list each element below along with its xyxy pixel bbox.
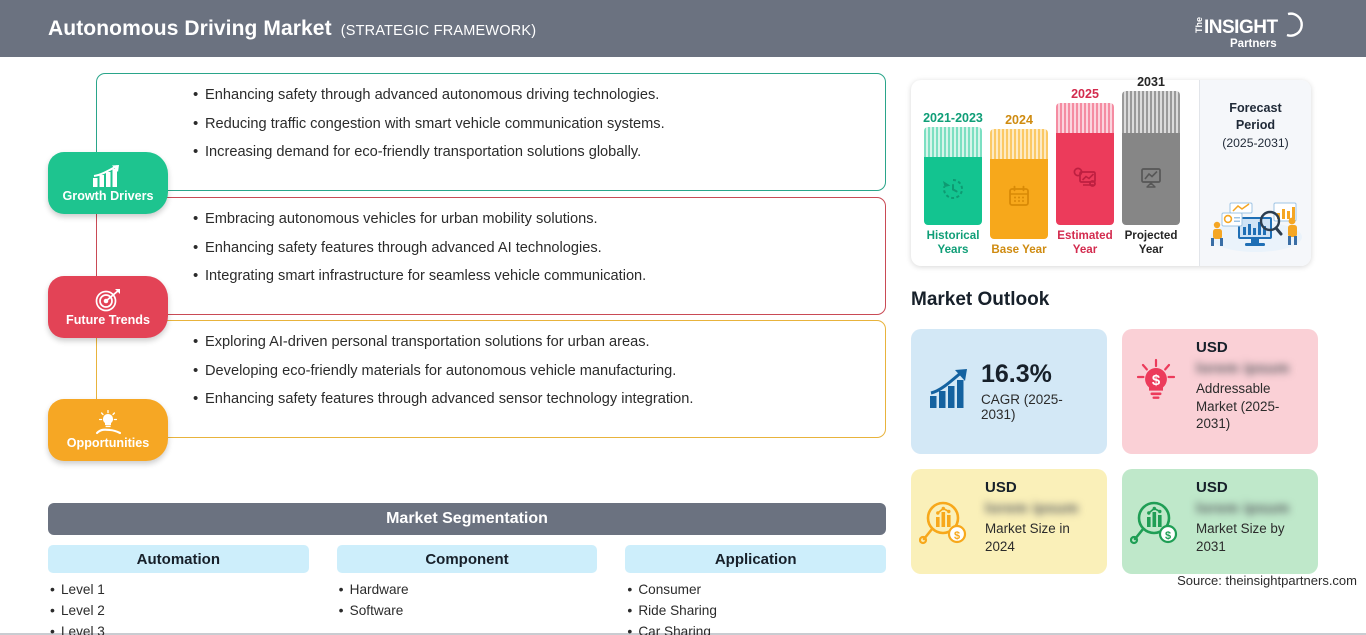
market-size-2031-body: USD lorem ipsum Market Size by 2031 — [1196, 479, 1306, 555]
growth-drivers-badge[interactable]: Growth Drivers — [48, 152, 168, 214]
bar-chart-arrow-up-icon — [927, 367, 975, 416]
bar-shape — [990, 129, 1048, 239]
market-outlook-cards: 16.3% CAGR (2025-2031) — [911, 329, 1325, 574]
forecast-period-range: (2025-2031) — [1200, 136, 1311, 150]
svg-text:Partners: Partners — [1230, 38, 1277, 50]
forecast-bar-base: 2024 — [989, 113, 1049, 256]
bar-solid — [1122, 133, 1180, 225]
bar-stripes — [990, 129, 1048, 159]
blurred-value: lorem ipsum — [1196, 500, 1306, 517]
card-description: Market Size in 2024 — [985, 520, 1095, 555]
forecast-period-side: Forecast Period (2025-2031) — [1199, 80, 1311, 266]
bar-shape — [1056, 103, 1114, 225]
opportunities-box: Exploring AI-driven personal transportat… — [96, 320, 886, 438]
growth-drivers-box: Enhancing safety through advanced autono… — [96, 73, 886, 191]
list-item: Level 3 — [50, 624, 309, 635]
segment-list-application: Consumer Ride Sharing Car Sharing — [625, 582, 886, 635]
forecast-bar-projected: 2031 — [1121, 75, 1181, 256]
list-item: Software — [339, 603, 598, 618]
bar-stripes — [1122, 91, 1180, 133]
segmentation-columns: Automation Level 1 Level 2 Level 3 Compo… — [48, 545, 886, 635]
bar-stripes — [924, 127, 982, 157]
magnifier-chart-dollar-icon: $ — [919, 499, 969, 552]
bar-shape — [1122, 91, 1180, 225]
addressable-market-card[interactable]: $ USD lorem ipsum Addressable Market (20… — [1122, 329, 1318, 454]
currency-label: USD — [1196, 479, 1306, 496]
future-trends-badge[interactable]: Future Trends — [48, 276, 168, 338]
segmentation-column-component: Component Hardware Software — [337, 545, 598, 635]
bar-shape — [924, 127, 982, 225]
bar-solid — [1056, 133, 1114, 225]
list-item: Level 2 — [50, 603, 309, 618]
list-item: Integrating smart infrastructure for sea… — [193, 269, 867, 284]
the-insight-partners-logo: The INSIGHT Partners — [1188, 9, 1308, 51]
presentation-chart-icon — [1138, 165, 1164, 194]
list-item: Increasing demand for eco-friendly trans… — [193, 145, 867, 160]
list-item: Reducing traffic congestion with smart v… — [193, 117, 867, 132]
page-title: Autonomous Driving Market(STRATEGIC FRAM… — [48, 17, 536, 41]
list-item: Car Sharing — [627, 624, 886, 635]
lightbulb-in-hand-icon — [93, 410, 123, 435]
bar-year-label: 2025 — [1055, 87, 1115, 101]
svg-text:INSIGHT: INSIGHT — [1204, 17, 1278, 38]
bar-caption: Projected Year — [1121, 229, 1181, 256]
future-trends-bullets: Embracing autonomous vehicles for urban … — [97, 198, 885, 294]
segmentation-column-application: Application Consumer Ride Sharing Car Sh… — [625, 545, 886, 635]
currency-label: USD — [1196, 339, 1306, 356]
segment-list-component: Hardware Software — [337, 582, 598, 618]
list-item: Level 1 — [50, 582, 309, 597]
market-size-2031-card[interactable]: $ USD lorem ipsum Market Size by 2031 — [1122, 469, 1318, 574]
cagr-text-group: 16.3% CAGR (2025-2031) — [981, 362, 1095, 422]
badge-label: Growth Drivers — [63, 190, 154, 203]
segment-title-component[interactable]: Component — [337, 545, 598, 573]
market-segmentation-heading: Market Segmentation — [48, 503, 886, 535]
segment-title-automation[interactable]: Automation — [48, 545, 309, 573]
future-trends-box: Embracing autonomous vehicles for urban … — [96, 197, 886, 315]
opportunities-bullets: Exploring AI-driven personal transportat… — [97, 321, 885, 417]
forecast-period-title-line2: Period — [1200, 117, 1311, 134]
source-attribution: Source: theinsightpartners.com — [1177, 573, 1357, 588]
infographic-page: Autonomous Driving Market(STRATEGIC FRAM… — [0, 0, 1366, 635]
lightbulb-dollar-icon: $ — [1132, 357, 1180, 412]
opportunities-badge[interactable]: Opportunities — [48, 399, 168, 461]
currency-label: USD — [985, 479, 1095, 496]
addressable-market-body: USD lorem ipsum Addressable Market (2025… — [1196, 339, 1306, 433]
segment-title-application[interactable]: Application — [625, 545, 886, 573]
forecast-bars: 2021-2023 — [911, 80, 1199, 266]
data-analysis-illustration — [1204, 191, 1308, 258]
bar-solid — [990, 159, 1048, 239]
magnifier-chart-dollar-icon: $ — [1130, 499, 1180, 552]
forecast-bar-historical: 2021-2023 — [923, 111, 983, 256]
blurred-value: lorem ipsum — [1196, 360, 1306, 377]
bar-year-label: 2024 — [989, 113, 1049, 127]
svg-text:$: $ — [1152, 372, 1161, 389]
segmentation-column-automation: Automation Level 1 Level 2 Level 3 — [48, 545, 309, 635]
svg-text:$: $ — [954, 530, 960, 542]
forecast-bar-estimated: 2025 — [1055, 87, 1115, 256]
bar-caption: Historical Years — [923, 229, 983, 256]
growth-drivers-bullets: Enhancing safety through advanced autono… — [97, 74, 885, 170]
svg-text:$: $ — [1165, 530, 1171, 542]
list-item: Ride Sharing — [627, 603, 886, 618]
bar-caption: Base Year — [989, 243, 1049, 256]
forecast-period-title-line1: Forecast — [1200, 100, 1311, 117]
page-title-text: Autonomous Driving Market — [48, 17, 332, 40]
list-item: Consumer — [627, 582, 886, 597]
cagr-card[interactable]: 16.3% CAGR (2025-2031) — [911, 329, 1107, 454]
list-item: Enhancing safety features through advanc… — [193, 241, 867, 256]
cagr-description: CAGR (2025-2031) — [981, 392, 1095, 422]
list-item: Developing eco-friendly materials for au… — [193, 364, 867, 379]
market-size-2024-body: USD lorem ipsum Market Size in 2024 — [985, 479, 1095, 555]
card-description: Addressable Market (2025-2031) — [1196, 380, 1306, 433]
bar-stripes — [1056, 103, 1114, 133]
svg-text:The: The — [1194, 17, 1204, 33]
analytics-gear-icon — [1072, 165, 1098, 194]
list-item: Enhancing safety through advanced autono… — [193, 88, 867, 103]
bar-year-label: 2021-2023 — [923, 111, 983, 125]
target-dartboard-icon — [94, 288, 122, 312]
bar-year-label: 2031 — [1121, 75, 1181, 89]
forecast-period-panel: 2021-2023 — [911, 80, 1311, 266]
list-item: Hardware — [339, 582, 598, 597]
list-item: Enhancing safety features through advanc… — [193, 392, 867, 407]
right-content-column: 2021-2023 — [902, 57, 1366, 635]
list-item: Embracing autonomous vehicles for urban … — [193, 212, 867, 227]
badge-label: Future Trends — [66, 314, 150, 327]
badge-label: Opportunities — [67, 437, 150, 450]
cagr-value: 16.3% — [981, 362, 1095, 387]
bar-solid — [924, 157, 982, 225]
left-content-column: Enhancing safety through advanced autono… — [0, 57, 900, 635]
bar-caption: Estimated Year — [1055, 229, 1115, 256]
market-size-2024-card[interactable]: $ USD lorem ipsum Market Size in 2024 — [911, 469, 1107, 574]
segment-list-automation: Level 1 Level 2 Level 3 — [48, 582, 309, 635]
card-description: Market Size by 2031 — [1196, 520, 1306, 555]
market-outlook-title: Market Outlook — [911, 289, 1049, 311]
page-header: Autonomous Driving Market(STRATEGIC FRAM… — [0, 0, 1366, 57]
blurred-value: lorem ipsum — [985, 500, 1095, 517]
bar-chart-growth-icon — [91, 164, 125, 188]
clock-rewind-icon — [940, 176, 966, 207]
page-subtitle: (STRATEGIC FRAMEWORK) — [341, 23, 537, 39]
calendar-icon — [1007, 184, 1031, 213]
list-item: Exploring AI-driven personal transportat… — [193, 335, 867, 350]
